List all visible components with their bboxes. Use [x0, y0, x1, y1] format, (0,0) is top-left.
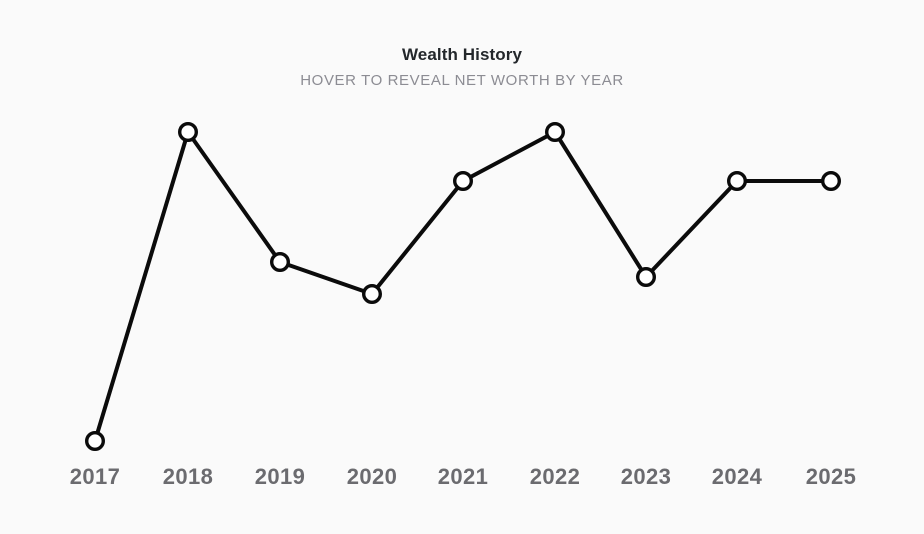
x-tick-label-2023: 2023 — [621, 462, 672, 492]
x-tick-label-2021: 2021 — [438, 462, 489, 492]
data-point-marker-2018[interactable] — [180, 124, 197, 141]
data-point-marker-2019[interactable] — [272, 254, 289, 271]
data-point-marker-2024[interactable] — [729, 173, 746, 190]
x-axis: 201720182019202020212022202320242025 — [0, 462, 924, 498]
data-point-marker-2021[interactable] — [455, 173, 472, 190]
data-point-markers — [79, 116, 847, 457]
x-tick-label-2022: 2022 — [530, 462, 581, 492]
plot-area — [0, 0, 924, 534]
data-point-marker-2017[interactable] — [87, 433, 104, 450]
x-tick-label-2017: 2017 — [70, 462, 121, 492]
x-tick-label-2019: 2019 — [255, 462, 306, 492]
wealth-history-chart-card: Wealth History HOVER TO REVEAL NET WORTH… — [0, 0, 924, 534]
x-tick-label-2024: 2024 — [712, 462, 763, 492]
data-point-marker-2022[interactable] — [547, 124, 564, 141]
x-tick-label-2025: 2025 — [806, 462, 857, 492]
data-point-marker-2020[interactable] — [364, 286, 381, 303]
line-chart-svg — [0, 0, 924, 534]
data-point-marker-2023[interactable] — [638, 269, 655, 286]
x-tick-label-2020: 2020 — [347, 462, 398, 492]
data-point-marker-2025[interactable] — [823, 173, 840, 190]
x-tick-label-2018: 2018 — [163, 462, 214, 492]
